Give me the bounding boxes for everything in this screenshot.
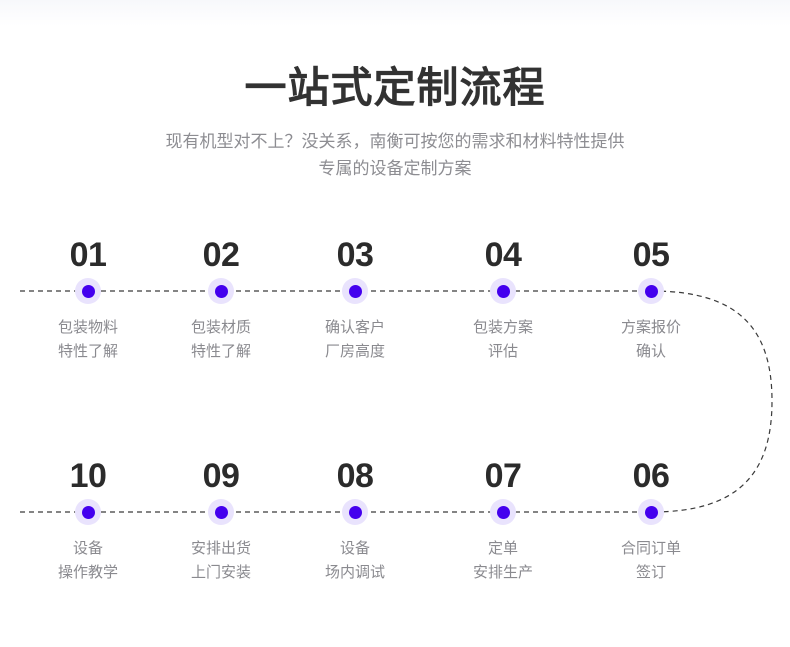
step-label-line-1: 确认客户: [280, 316, 430, 340]
step-marker[interactable]: [13, 276, 163, 306]
step-label-line-2: 场内调试: [280, 561, 430, 585]
step-label: 设备 场内调试: [280, 537, 430, 585]
step-number: 04: [428, 236, 578, 276]
step-number: 10: [13, 457, 163, 497]
step-label-line-1: 设备: [280, 537, 430, 561]
step-number: 06: [576, 457, 726, 497]
flow-step-10[interactable]: 10 设备 操作教学: [13, 457, 163, 585]
step-dot-icon: [349, 285, 362, 298]
step-dot-icon: [82, 285, 95, 298]
step-label: 包装方案 评估: [428, 316, 578, 364]
flow-step-08[interactable]: 08 设备 场内调试: [280, 457, 430, 585]
flow-step-05[interactable]: 05 方案报价 确认: [576, 236, 726, 364]
step-marker[interactable]: [576, 497, 726, 527]
step-dot-icon: [497, 285, 510, 298]
step-dot-icon: [215, 506, 228, 519]
flow-step-07[interactable]: 07 定单 安排生产: [428, 457, 578, 585]
step-label: 定单 安排生产: [428, 537, 578, 585]
step-label-line-2: 特性了解: [146, 340, 296, 364]
flow-step-01[interactable]: 01 包装物料 特性了解: [13, 236, 163, 364]
step-marker[interactable]: [428, 276, 578, 306]
subtitle-line-1: 现有机型对不上？没关系，南衡可按您的需求和材料特性提供: [95, 128, 695, 155]
step-marker[interactable]: [428, 497, 578, 527]
page-title: 一站式定制流程: [0, 62, 790, 114]
flow-step-04[interactable]: 04 包装方案 评估: [428, 236, 578, 364]
step-marker[interactable]: [280, 497, 430, 527]
step-label-line-1: 包装材质: [146, 316, 296, 340]
step-dot-icon: [215, 285, 228, 298]
step-number: 03: [280, 236, 430, 276]
step-label: 包装材质 特性了解: [146, 316, 296, 364]
step-label-line-1: 方案报价: [576, 316, 726, 340]
step-label-line-1: 安排出货: [146, 537, 296, 561]
step-label: 包装物料 特性了解: [13, 316, 163, 364]
step-label-line-2: 操作教学: [13, 561, 163, 585]
step-dot-icon: [497, 506, 510, 519]
flow-step-09[interactable]: 09 安排出货 上门安装: [146, 457, 296, 585]
customization-flow-page: 一站式定制流程 现有机型对不上？没关系，南衡可按您的需求和材料特性提供 专属的设…: [0, 0, 790, 647]
step-dot-icon: [349, 506, 362, 519]
top-gradient-band: [0, 0, 790, 26]
step-marker[interactable]: [576, 276, 726, 306]
subtitle-line-2: 专属的设备定制方案: [95, 155, 695, 182]
step-label-line-2: 安排生产: [428, 561, 578, 585]
flow-step-06[interactable]: 06 合同订单 签订: [576, 457, 726, 585]
flow-step-03[interactable]: 03 确认客户 厂房高度: [280, 236, 430, 364]
step-number: 08: [280, 457, 430, 497]
step-label-line-2: 上门安装: [146, 561, 296, 585]
step-label: 确认客户 厂房高度: [280, 316, 430, 364]
page-subtitle: 现有机型对不上？没关系，南衡可按您的需求和材料特性提供 专属的设备定制方案: [95, 128, 695, 182]
step-label-line-1: 包装方案: [428, 316, 578, 340]
step-label: 设备 操作教学: [13, 537, 163, 585]
step-dot-icon: [82, 506, 95, 519]
step-label-line-1: 定单: [428, 537, 578, 561]
step-label-line-1: 合同订单: [576, 537, 726, 561]
step-number: 01: [13, 236, 163, 276]
step-label: 安排出货 上门安装: [146, 537, 296, 585]
step-marker[interactable]: [146, 276, 296, 306]
step-marker[interactable]: [13, 497, 163, 527]
step-label-line-2: 签订: [576, 561, 726, 585]
flow-step-02[interactable]: 02 包装材质 特性了解: [146, 236, 296, 364]
step-marker[interactable]: [146, 497, 296, 527]
section-header: 一站式定制流程 现有机型对不上？没关系，南衡可按您的需求和材料特性提供 专属的设…: [0, 62, 790, 182]
step-label-line-1: 设备: [13, 537, 163, 561]
step-label: 方案报价 确认: [576, 316, 726, 364]
step-dot-icon: [645, 506, 658, 519]
step-number: 07: [428, 457, 578, 497]
step-number: 09: [146, 457, 296, 497]
step-marker[interactable]: [280, 276, 430, 306]
step-label-line-2: 确认: [576, 340, 726, 364]
flow-diagram: 01 包装物料 特性了解 02 包装材质 特性了解 03: [0, 210, 790, 630]
step-dot-icon: [645, 285, 658, 298]
step-label: 合同订单 签订: [576, 537, 726, 585]
step-number: 02: [146, 236, 296, 276]
step-label-line-1: 包装物料: [13, 316, 163, 340]
step-label-line-2: 特性了解: [13, 340, 163, 364]
step-number: 05: [576, 236, 726, 276]
step-label-line-2: 评估: [428, 340, 578, 364]
step-label-line-2: 厂房高度: [280, 340, 430, 364]
